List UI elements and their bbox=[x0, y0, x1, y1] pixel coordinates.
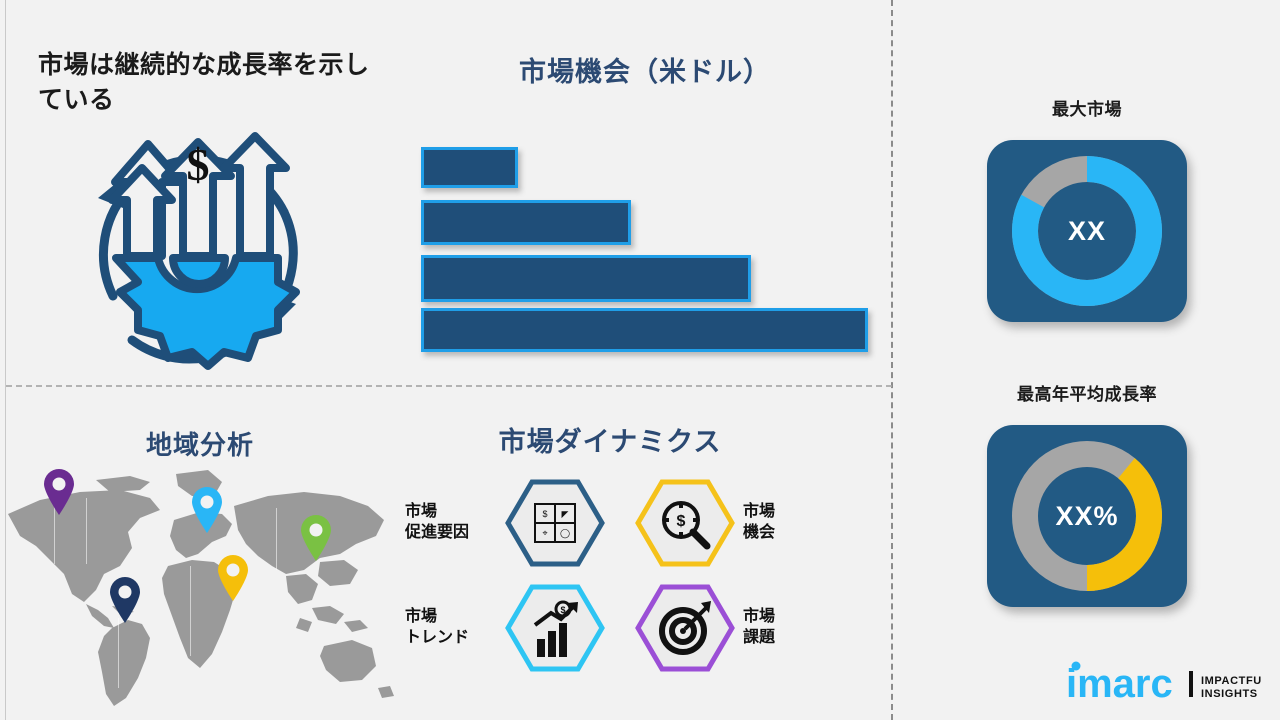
logo-tagline-line2: INSIGHTS bbox=[1201, 688, 1258, 700]
hexagon-challenges bbox=[635, 583, 735, 673]
pin-south-america[interactable] bbox=[108, 576, 142, 624]
opportunity-title: 市場機会（米ドル） bbox=[420, 50, 870, 89]
imarc-logo: imarc IMPACTFUL INSIGHTS bbox=[1062, 655, 1262, 705]
dynamics-label-opportunities: 市場 機会 bbox=[743, 502, 835, 544]
dynamics-item-opportunities[interactable]: $ 市場 機会 bbox=[635, 478, 835, 568]
svg-text:◤: ◤ bbox=[562, 509, 569, 519]
bar-row-1 bbox=[421, 200, 631, 245]
logo-divider-bar bbox=[1189, 671, 1193, 697]
largest-market-donut bbox=[987, 140, 1187, 322]
pin-north-america[interactable] bbox=[42, 468, 76, 516]
svg-text:◯: ◯ bbox=[560, 528, 570, 539]
svg-text:$: $ bbox=[560, 605, 565, 615]
left-headline: 市場は継続的な成長率を示している bbox=[38, 48, 388, 117]
market-dynamics-title: 市場ダイナミクス bbox=[400, 420, 820, 459]
hexagon-drivers: $ ◤ ⌖ ◯ bbox=[505, 478, 605, 568]
market-dynamics-grid: 市場 促進要因 $ ◤ ⌖ ◯ bbox=[400, 478, 820, 678]
dollar-symbol: $ bbox=[187, 139, 210, 190]
highest-cagr-donut bbox=[987, 425, 1187, 607]
pin-east-asia[interactable] bbox=[299, 514, 333, 562]
pin-europe[interactable] bbox=[190, 486, 224, 534]
vertical-dashed-divider bbox=[891, 0, 893, 720]
logo-tagline-line1: IMPACTFUL bbox=[1201, 675, 1262, 687]
svg-text:$: $ bbox=[677, 513, 686, 530]
dynamics-item-challenges[interactable]: 市場 課題 bbox=[635, 583, 835, 673]
growth-cycle-gear-icon: $ bbox=[72, 128, 322, 373]
bar-row-2 bbox=[421, 255, 751, 302]
highest-cagr-title: 最高年平均成長率 bbox=[937, 380, 1237, 405]
bar-row-3 bbox=[421, 308, 868, 352]
bar-row-0 bbox=[421, 147, 518, 188]
hexagon-opportunities: $ bbox=[635, 478, 735, 568]
region-analysis-title: 地域分析 bbox=[10, 425, 390, 462]
dynamics-label-drivers: 市場 促進要因 bbox=[405, 502, 497, 544]
dynamics-item-drivers[interactable]: 市場 促進要因 $ ◤ ⌖ ◯ bbox=[405, 478, 605, 568]
svg-text:$: $ bbox=[542, 509, 547, 519]
dynamics-label-challenges: 市場 課題 bbox=[743, 607, 835, 649]
horizontal-dashed-divider bbox=[6, 385, 892, 387]
highest-cagr-card: XX% bbox=[987, 425, 1187, 607]
opportunity-bar-chart bbox=[410, 140, 880, 355]
logo-wordmark: imarc bbox=[1066, 662, 1173, 705]
largest-market-title: 最大市場 bbox=[937, 95, 1237, 120]
slide-canvas: 市場は継続的な成長率を示している $ bbox=[0, 0, 1280, 720]
dynamics-label-trends: 市場 トレンド bbox=[405, 607, 497, 649]
dynamics-item-trends[interactable]: 市場 トレンド $ bbox=[405, 583, 605, 673]
hexagon-trends: $ bbox=[505, 583, 605, 673]
largest-market-card: XX bbox=[987, 140, 1187, 322]
svg-text:⌖: ⌖ bbox=[542, 528, 547, 538]
pin-middle-east[interactable] bbox=[216, 554, 250, 602]
